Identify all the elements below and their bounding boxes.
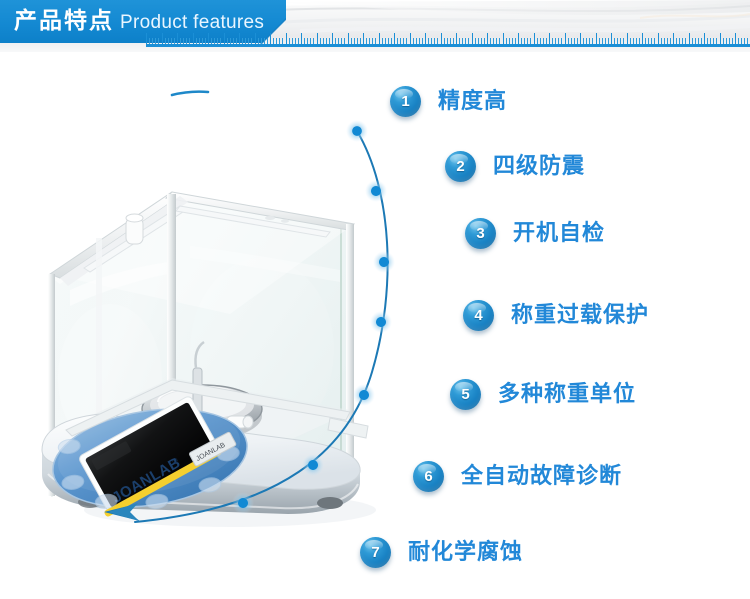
ruler-tick-strip	[146, 33, 750, 47]
feature-badge-5: 5	[450, 379, 481, 410]
ruler-tick	[543, 38, 544, 44]
ruler-tick	[165, 38, 166, 44]
ruler-tick	[546, 38, 547, 44]
ruler-tick	[723, 38, 724, 44]
ruler-tick	[537, 38, 538, 44]
ruler-tick	[375, 38, 376, 44]
ruler-tick	[583, 38, 584, 44]
feature-label-3: 开机自检	[513, 219, 605, 249]
ruler-tick	[744, 38, 745, 44]
product-photo-analytical-balance: JOANLAB ® JOANLAB	[30, 78, 390, 538]
ruler-tick	[732, 38, 733, 44]
ruler-tick	[527, 38, 528, 44]
ruler-tick	[561, 38, 562, 44]
feature-label-1: 精度高	[438, 87, 507, 117]
ruler-tick	[518, 33, 519, 44]
ruler-tick	[679, 38, 680, 44]
ruler-tick	[245, 38, 246, 44]
ruler-tick	[667, 38, 668, 44]
ruler-tick	[155, 38, 156, 44]
ruler-tick	[534, 33, 535, 44]
ruler-tick	[220, 38, 221, 44]
ruler-tick	[605, 38, 606, 44]
ruler-tick	[434, 38, 435, 44]
ruler-tick	[351, 38, 352, 44]
ruler-baseline	[146, 44, 750, 47]
ruler-tick	[214, 38, 215, 44]
ruler-tick	[648, 38, 649, 44]
ruler-tick	[162, 33, 163, 44]
ruler-tick	[577, 38, 578, 44]
ruler-tick	[233, 38, 234, 44]
ruler-tick	[530, 38, 531, 44]
ruler-tick	[251, 38, 252, 44]
ruler-tick	[716, 38, 717, 44]
ruler-tick	[596, 33, 597, 44]
ruler-tick	[620, 38, 621, 44]
ruler-tick	[301, 33, 302, 44]
ruler-tick	[174, 38, 175, 44]
ruler-tick	[239, 33, 240, 44]
ruler-tick	[639, 38, 640, 44]
ruler-tick	[425, 33, 426, 44]
ruler-tick	[431, 38, 432, 44]
ruler-tick	[171, 38, 172, 44]
ruler-tick	[335, 38, 336, 44]
ruler-tick	[307, 38, 308, 44]
page-title-cn: 产品特点	[14, 7, 114, 35]
ruler-tick	[602, 38, 603, 44]
ruler-tick	[323, 38, 324, 44]
ruler-tick	[599, 38, 600, 44]
ruler-tick	[512, 38, 513, 44]
ruler-tick	[236, 38, 237, 44]
ruler-tick	[611, 33, 612, 44]
ruler-tick	[196, 38, 197, 44]
ruler-tick	[568, 38, 569, 44]
ruler-tick	[279, 38, 280, 44]
ruler-tick	[394, 33, 395, 44]
feature-item-7[interactable]: 7耐化学腐蚀	[360, 537, 523, 568]
ruler-tick	[338, 38, 339, 44]
ruler-tick	[224, 33, 225, 44]
ruler-tick	[208, 33, 209, 44]
ruler-tick	[670, 38, 671, 44]
ruler-tick	[372, 38, 373, 44]
ruler-tick	[484, 38, 485, 44]
ruler-tick	[496, 38, 497, 44]
ruler-tick	[357, 38, 358, 44]
ruler-tick	[180, 38, 181, 44]
ruler-tick	[360, 38, 361, 44]
page-title-en: Product features	[120, 11, 264, 35]
ruler-tick	[379, 33, 380, 44]
feature-badge-number: 1	[390, 86, 421, 117]
ruler-tick	[348, 33, 349, 44]
ruler-tick	[255, 33, 256, 44]
ruler-tick	[487, 33, 488, 44]
ruler-tick	[682, 38, 683, 44]
ruler-tick	[555, 38, 556, 44]
ruler-tick	[344, 38, 345, 44]
ruler-tick	[468, 38, 469, 44]
ruler-tick	[332, 33, 333, 44]
feature-list: 1精度高2四级防震3开机自检4称重过载保护5多种称重单位6全自动故障诊断7耐化学…	[350, 86, 750, 586]
ruler-tick	[558, 38, 559, 44]
feature-badge-number: 3	[465, 218, 496, 249]
ruler-tick	[403, 38, 404, 44]
ruler-tick	[363, 33, 364, 44]
ruler-tick	[261, 38, 262, 44]
ruler-tick	[428, 38, 429, 44]
feature-item-1[interactable]: 1精度高	[390, 86, 507, 117]
ruler-tick	[574, 38, 575, 44]
ruler-tick	[676, 38, 677, 44]
ruler-tick	[413, 38, 414, 44]
product-features-page: 产品特点 Product features	[0, 0, 750, 599]
ruler-tick	[258, 38, 259, 44]
feature-badge-7: 7	[360, 537, 391, 568]
feature-label-7: 耐化学腐蚀	[408, 538, 523, 568]
ruler-tick	[289, 38, 290, 44]
ruler-tick	[416, 38, 417, 44]
ruler-tick	[437, 38, 438, 44]
ruler-tick	[391, 38, 392, 44]
ruler-tick	[654, 38, 655, 44]
ruler-tick	[472, 33, 473, 44]
ruler-tick	[199, 38, 200, 44]
ruler-tick	[273, 38, 274, 44]
ruler-tick	[444, 38, 445, 44]
ruler-tick	[304, 38, 305, 44]
ruler-tick	[741, 38, 742, 44]
ruler-tick	[695, 38, 696, 44]
ruler-tick	[456, 33, 457, 44]
feature-badge-number: 2	[445, 151, 476, 182]
ruler-tick	[589, 38, 590, 44]
ruler-tick	[183, 38, 184, 44]
ruler-tick	[298, 38, 299, 44]
ruler-tick	[326, 38, 327, 44]
ruler-tick	[230, 38, 231, 44]
ruler-tick	[313, 38, 314, 44]
ruler-tick	[698, 38, 699, 44]
ruler-tick	[354, 38, 355, 44]
feature-label-6: 全自动故障诊断	[461, 462, 622, 492]
feature-badge-3: 3	[465, 218, 496, 249]
feature-badge-6: 6	[413, 461, 444, 492]
ruler-tick	[689, 33, 690, 44]
feature-label-2: 四级防震	[493, 152, 585, 182]
ruler-tick	[211, 38, 212, 44]
ruler-tick	[580, 33, 581, 44]
feature-badge-number: 7	[360, 537, 391, 568]
feature-item-6[interactable]: 6全自动故障诊断	[413, 461, 622, 492]
ruler-tick	[481, 38, 482, 44]
ruler-tick	[630, 38, 631, 44]
ruler-tick	[447, 38, 448, 44]
ruler-tick	[292, 38, 293, 44]
ruler-tick	[499, 38, 500, 44]
ruler-tick	[450, 38, 451, 44]
ruler-tick	[720, 33, 721, 44]
ruler-tick	[205, 38, 206, 44]
ruler-tick	[642, 33, 643, 44]
ruler-tick	[419, 38, 420, 44]
ruler-tick	[453, 38, 454, 44]
ruler-tick	[713, 38, 714, 44]
section-header-banner: 产品特点 Product features	[0, 0, 750, 52]
ruler-tick	[614, 38, 615, 44]
ruler-tick	[524, 38, 525, 44]
ruler-tick	[661, 38, 662, 44]
ruler-tick	[692, 38, 693, 44]
ruler-tick	[571, 38, 572, 44]
ruler-tick	[707, 38, 708, 44]
ruler-tick	[664, 38, 665, 44]
ruler-tick	[493, 38, 494, 44]
ruler-tick	[549, 33, 550, 44]
ruler-tick	[410, 33, 411, 44]
ruler-tick	[193, 33, 194, 44]
feature-badge-number: 5	[450, 379, 481, 410]
ruler-tick	[317, 33, 318, 44]
ruler-tick	[658, 33, 659, 44]
ruler-tick	[673, 33, 674, 44]
feature-item-4[interactable]: 4称重过载保护	[463, 300, 649, 331]
ruler-tick	[388, 38, 389, 44]
ruler-tick	[382, 38, 383, 44]
ruler-tick	[726, 38, 727, 44]
ruler-tick	[623, 38, 624, 44]
ruler-tick	[475, 38, 476, 44]
ruler-tick	[186, 38, 187, 44]
ruler-tick	[608, 38, 609, 44]
ruler-tick	[490, 38, 491, 44]
ruler-tick	[177, 33, 178, 44]
ruler-tick	[509, 38, 510, 44]
ruler-tick	[506, 38, 507, 44]
ruler-tick	[400, 38, 401, 44]
ruler-tick	[267, 38, 268, 44]
ruler-tick	[149, 38, 150, 44]
ruler-tick	[592, 38, 593, 44]
ruler-tick	[735, 33, 736, 44]
ruler-tick	[202, 38, 203, 44]
ruler-tick	[406, 38, 407, 44]
feature-item-2[interactable]: 2四级防震	[445, 151, 585, 182]
ruler-tick	[264, 38, 265, 44]
ruler-tick	[627, 33, 628, 44]
ruler-tick	[146, 33, 147, 44]
feature-item-3[interactable]: 3开机自检	[465, 218, 605, 249]
ruler-tick	[320, 38, 321, 44]
ruler-tick	[397, 38, 398, 44]
ruler-tick	[217, 38, 218, 44]
ruler-tick	[636, 38, 637, 44]
ruler-tick	[515, 38, 516, 44]
feature-item-5[interactable]: 5多种称重单位	[450, 379, 636, 410]
ruler-tick	[478, 38, 479, 44]
ruler-tick	[286, 33, 287, 44]
ruler-tick	[441, 33, 442, 44]
ruler-tick	[158, 38, 159, 44]
ruler-tick	[152, 38, 153, 44]
ruler-tick	[341, 38, 342, 44]
ruler-tick	[633, 38, 634, 44]
ruler-tick	[459, 38, 460, 44]
ruler-tick	[385, 38, 386, 44]
ruler-tick	[645, 38, 646, 44]
ruler-tick	[248, 38, 249, 44]
feature-badge-4: 4	[463, 300, 494, 331]
ruler-tick	[521, 38, 522, 44]
ruler-tick	[701, 38, 702, 44]
ruler-tick	[189, 38, 190, 44]
feature-badge-number: 4	[463, 300, 494, 331]
ruler-tick	[465, 38, 466, 44]
ruler-tick	[276, 38, 277, 44]
feature-badge-2: 2	[445, 151, 476, 182]
ruler-tick	[710, 38, 711, 44]
ruler-tick	[586, 38, 587, 44]
ruler-tick	[310, 38, 311, 44]
ruler-tick	[552, 38, 553, 44]
ruler-tick	[242, 38, 243, 44]
ruler-tick	[503, 33, 504, 44]
ruler-tick	[295, 38, 296, 44]
ruler-tick	[729, 38, 730, 44]
ruler-tick	[617, 38, 618, 44]
ruler-tick	[565, 33, 566, 44]
ruler-tick	[282, 38, 283, 44]
ruler-tick	[168, 38, 169, 44]
ruler-tick	[651, 38, 652, 44]
ruler-tick	[422, 38, 423, 44]
feature-label-4: 称重过载保护	[511, 301, 649, 331]
ruler-tick	[329, 38, 330, 44]
ruler-tick	[366, 38, 367, 44]
ruler-tick	[747, 38, 748, 44]
feature-badge-number: 6	[413, 461, 444, 492]
ruler-tick	[227, 38, 228, 44]
ruler-tick	[685, 38, 686, 44]
feature-badge-1: 1	[390, 86, 421, 117]
ruler-tick	[369, 38, 370, 44]
ruler-tick	[540, 38, 541, 44]
ruler-tick	[462, 38, 463, 44]
feature-label-5: 多种称重单位	[498, 380, 636, 410]
ruler-tick	[704, 33, 705, 44]
ruler-tick	[270, 33, 271, 44]
ruler-tick	[738, 38, 739, 44]
